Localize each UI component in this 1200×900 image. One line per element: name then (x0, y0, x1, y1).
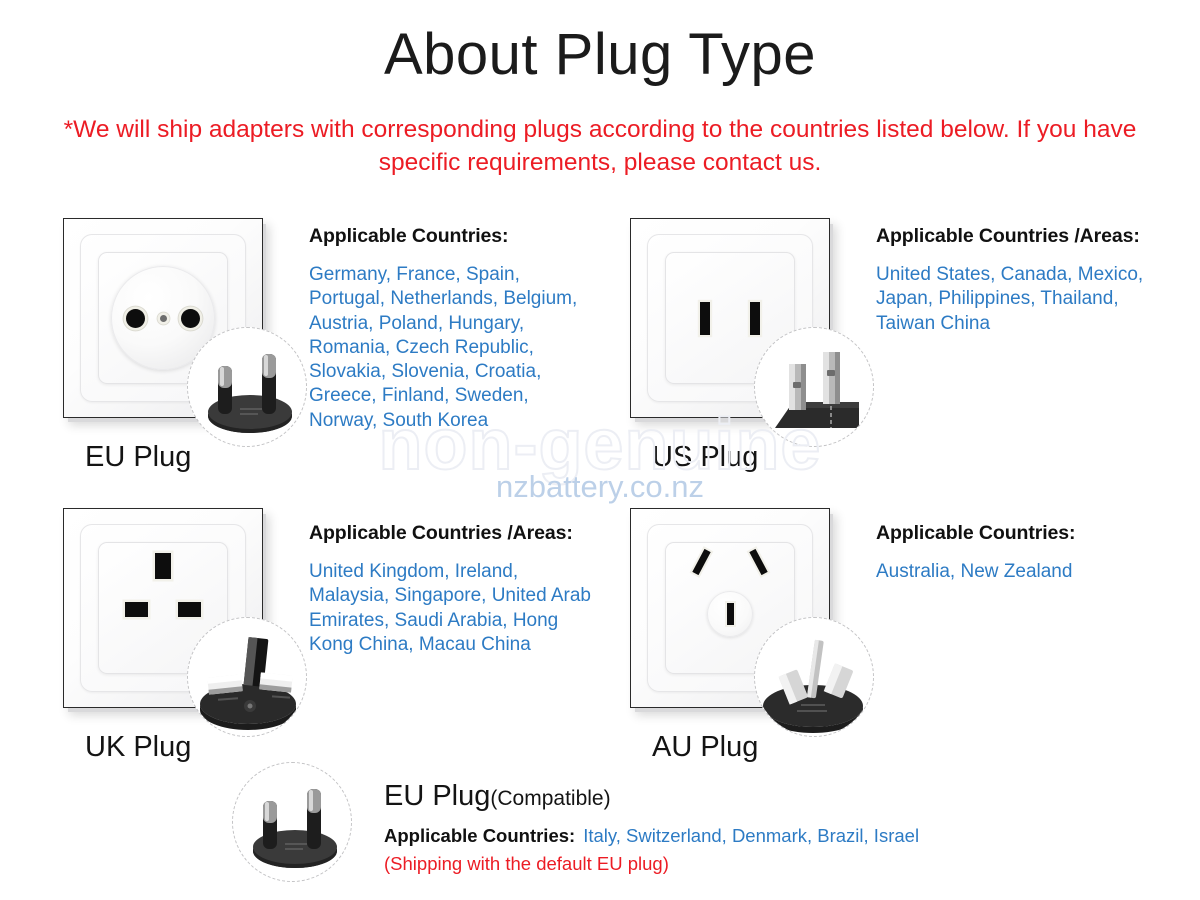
info-column-au: Applicable Countries: Australia, New Zea… (876, 521, 1166, 584)
info-column-uk: Applicable Countries /Areas: United King… (309, 521, 599, 657)
plug-label-eu: EU Plug (85, 440, 191, 474)
info-heading-au: Applicable Countries: (876, 521, 1166, 546)
uk-plug-icon (187, 617, 307, 737)
compatible-countries-line: Applicable Countries:Italy, Switzerland,… (384, 824, 984, 848)
page-title: About Plug Type (0, 22, 1200, 88)
eu-plug-icon (187, 327, 307, 447)
eu-socket-hole-left (126, 309, 145, 328)
compatible-title-main: EU Plug (384, 780, 490, 812)
eu-socket-earth-pin (160, 315, 167, 322)
compatible-title-suffix: (Compatible) (490, 787, 610, 810)
au-plug-icon (754, 617, 874, 737)
eu-plug-icon (232, 762, 352, 882)
plug-label-us: US Plug (652, 440, 758, 474)
uk-socket-slot-right (178, 602, 201, 617)
info-countries-au: Australia, New Zealand (876, 560, 1166, 584)
info-heading-uk: Applicable Countries /Areas: (309, 521, 599, 546)
compatible-heading: Applicable Countries: (384, 825, 575, 846)
info-column-us: Applicable Countries /Areas: United Stat… (876, 224, 1166, 336)
us-socket-slot-left (700, 302, 710, 335)
plug-label-uk: UK Plug (85, 730, 191, 764)
shipping-note: *We will ship adapters with correspondin… (60, 113, 1140, 179)
compatible-countries: Italy, Switzerland, Denmark, Brazil, Isr… (583, 825, 919, 846)
au-socket-earth-slot (727, 603, 734, 625)
info-countries-uk: United Kingdom, Ireland, Malaysia, Singa… (309, 560, 599, 657)
us-plug-icon (754, 327, 874, 447)
plug-label-au: AU Plug (652, 730, 758, 764)
uk-socket-slot-left (125, 602, 148, 617)
compatible-shipping-note: (Shipping with the default EU plug) (384, 852, 984, 876)
info-column-eu: Applicable Countries: Germany, France, S… (309, 224, 579, 433)
info-heading-us: Applicable Countries /Areas: (876, 224, 1166, 249)
compatible-title: EU Plug(Compatible) (384, 779, 984, 816)
au-socket-slot-right (749, 549, 767, 575)
info-countries-us: United States, Canada, Mexico, Japan, Ph… (876, 263, 1166, 336)
au-socket-slot-left (692, 549, 710, 575)
compatible-plug-block: EU Plug(Compatible) Applicable Countries… (232, 762, 992, 892)
au-socket-earth-recess (707, 591, 753, 637)
us-socket-slot-right (750, 302, 760, 335)
info-countries-eu: Germany, France, Spain, Portugal, Nether… (309, 263, 579, 433)
info-heading-eu: Applicable Countries: (309, 224, 579, 249)
uk-socket-earth-slot (155, 553, 171, 579)
eu-socket-hole-right (181, 309, 200, 328)
